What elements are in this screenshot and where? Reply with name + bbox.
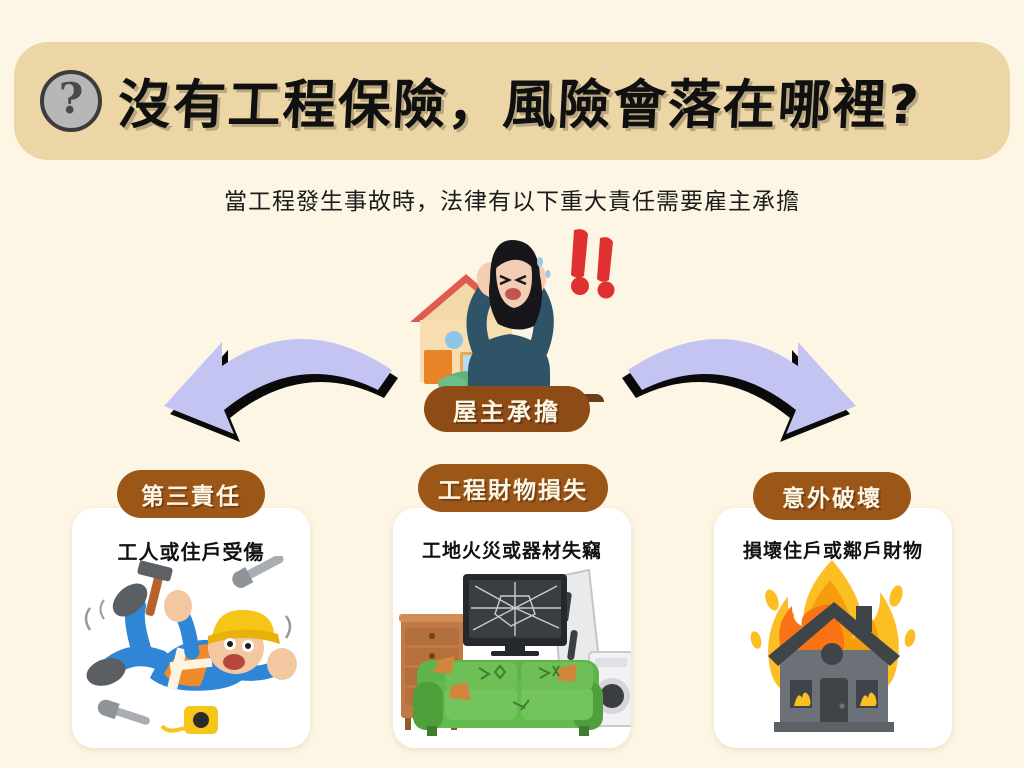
damaged-furniture-icon [393, 556, 631, 748]
card-caption: 工地火災或器材失竊 [393, 536, 631, 563]
broken-tv-shape [463, 574, 567, 656]
risk-card-property-loss: 工地火災或器材失竊 [393, 508, 631, 748]
curved-arrow-right [618, 322, 868, 467]
page-subtitle: 當工程發生事故時，法律有以下重大責任需要雇主承擔 [0, 182, 1024, 216]
card-badge-third-party: 第三責任 [117, 470, 265, 518]
card-caption: 損壞住戶或鄰戶財物 [714, 536, 952, 563]
torn-sofa-shape [413, 656, 603, 736]
falling-construction-worker-icon [72, 556, 310, 748]
center-badge-homeowner: 屋主承擔 [424, 386, 590, 432]
center-badge-label: 屋主承擔 [453, 392, 561, 427]
page-title: 沒有工程保險，風險會落在哪裡? [116, 63, 923, 139]
card-badge-label: 第三責任 [141, 477, 241, 511]
infographic-canvas: ? 沒有工程保險，風險會落在哪裡? 當工程發生事故時，法律有以下重大責任需要雇主… [0, 0, 1024, 768]
question-mark-circle-icon: ? [40, 70, 102, 132]
header-band: ? 沒有工程保險，風險會落在哪裡? [14, 42, 1010, 160]
burning-house-icon [714, 556, 952, 748]
card-badge-property-loss: 工程財物損失 [418, 464, 608, 512]
curved-arrow-left [152, 322, 402, 467]
card-caption: 工人或住戶受傷 [72, 536, 310, 565]
wrench-icon-bottom [96, 698, 152, 730]
card-badge-accidental-damage: 意外破壞 [753, 472, 911, 520]
risk-card-third-party: 工人或住戶受傷 [72, 508, 310, 748]
card-badge-label: 意外破壞 [782, 479, 882, 513]
person-shape [468, 240, 551, 402]
stressed-homeowner-with-house-icon [398, 222, 630, 402]
risk-card-accidental-damage: 損壞住戶或鄰戶財物 [714, 508, 952, 748]
double-exclamation-icon [571, 229, 615, 298]
card-badge-label: 工程財物損失 [438, 471, 588, 505]
tape-measure-icon [162, 706, 218, 734]
question-mark-glyph: ? [59, 78, 84, 120]
